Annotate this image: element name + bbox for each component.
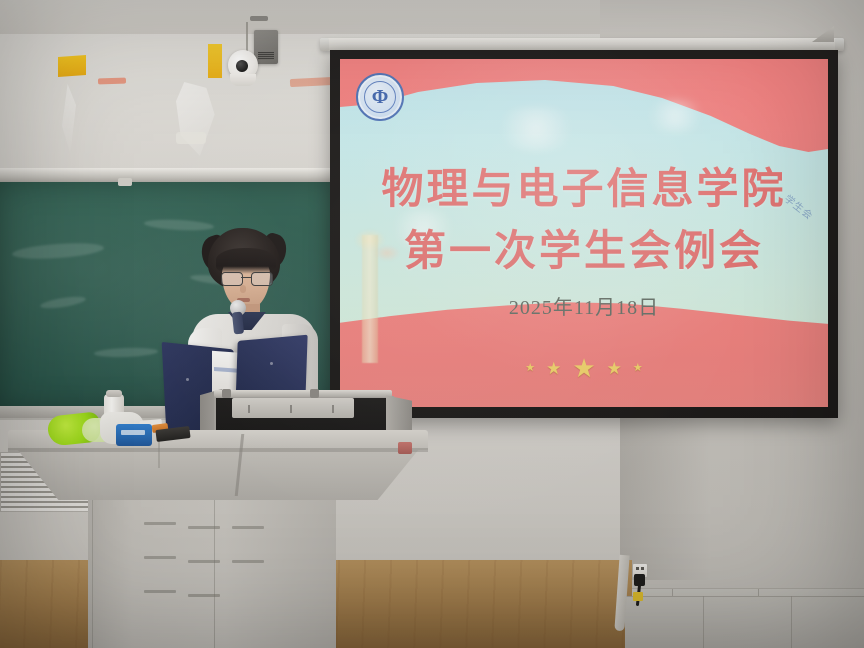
microphone-body <box>232 312 244 335</box>
slide-star-2: ★ <box>546 360 561 377</box>
speaker-grill <box>258 52 274 60</box>
fringe <box>216 248 276 274</box>
monitor-control-panel[interactable] <box>232 398 354 418</box>
blue-box <box>116 424 152 446</box>
lectern-lip-edge <box>8 448 428 452</box>
yellow-sticker <box>58 55 86 77</box>
tile-floor <box>625 596 864 648</box>
yellow-sticker-2 <box>208 44 222 78</box>
bottle-cap <box>106 390 122 397</box>
slide-date: 2025年11月18日 <box>340 291 828 320</box>
lid-hinge-left <box>222 389 231 398</box>
slide-cloud-1 <box>488 107 584 151</box>
camera-lens-icon <box>236 60 248 72</box>
emblem-glyph: Φ <box>372 87 389 107</box>
eyeglasses-icon <box>221 272 271 284</box>
camera-wire <box>246 22 248 54</box>
orange-tape-mark <box>98 78 126 85</box>
projection-screen-canvas: Φ 物理与电子信息学院 第一次学生会例会 2025年11月18日 学生会 ★★★… <box>340 59 828 407</box>
chalkboard-top-rail <box>0 168 342 182</box>
yellow-cable-tag <box>633 592 643 601</box>
lectern-red-tab <box>398 442 412 454</box>
wall-scuff <box>176 132 206 144</box>
ceiling-hook <box>250 16 268 21</box>
nose <box>240 285 246 293</box>
slide-star-row: ★★★★★ <box>340 355 828 381</box>
slide-star-1: ★ <box>525 363 535 374</box>
slide-cloud-3 <box>640 99 710 133</box>
college-emblem-icon: Φ <box>356 73 404 121</box>
chalkboard-clip <box>118 178 132 186</box>
camera-base <box>230 74 256 86</box>
roller-cap-left <box>320 38 329 51</box>
blue-box-label <box>121 430 145 435</box>
slide-title-line-2: 第一次学生会例会 <box>340 217 828 278</box>
classroom-photo-scene: Φ 物理与电子信息学院 第一次学生会例会 2025年11月18日 学生会 ★★★… <box>0 0 864 648</box>
slide-title-line-1: 物理与电子信息学院 <box>340 155 828 216</box>
slide-star-4: ★ <box>607 360 622 377</box>
slide-star-3: ★ <box>572 355 595 381</box>
lid-hinge-right <box>310 389 319 398</box>
lid-rail <box>214 390 392 397</box>
emblem-inner-ring: Φ <box>364 81 396 113</box>
slide-star-5: ★ <box>633 363 643 374</box>
